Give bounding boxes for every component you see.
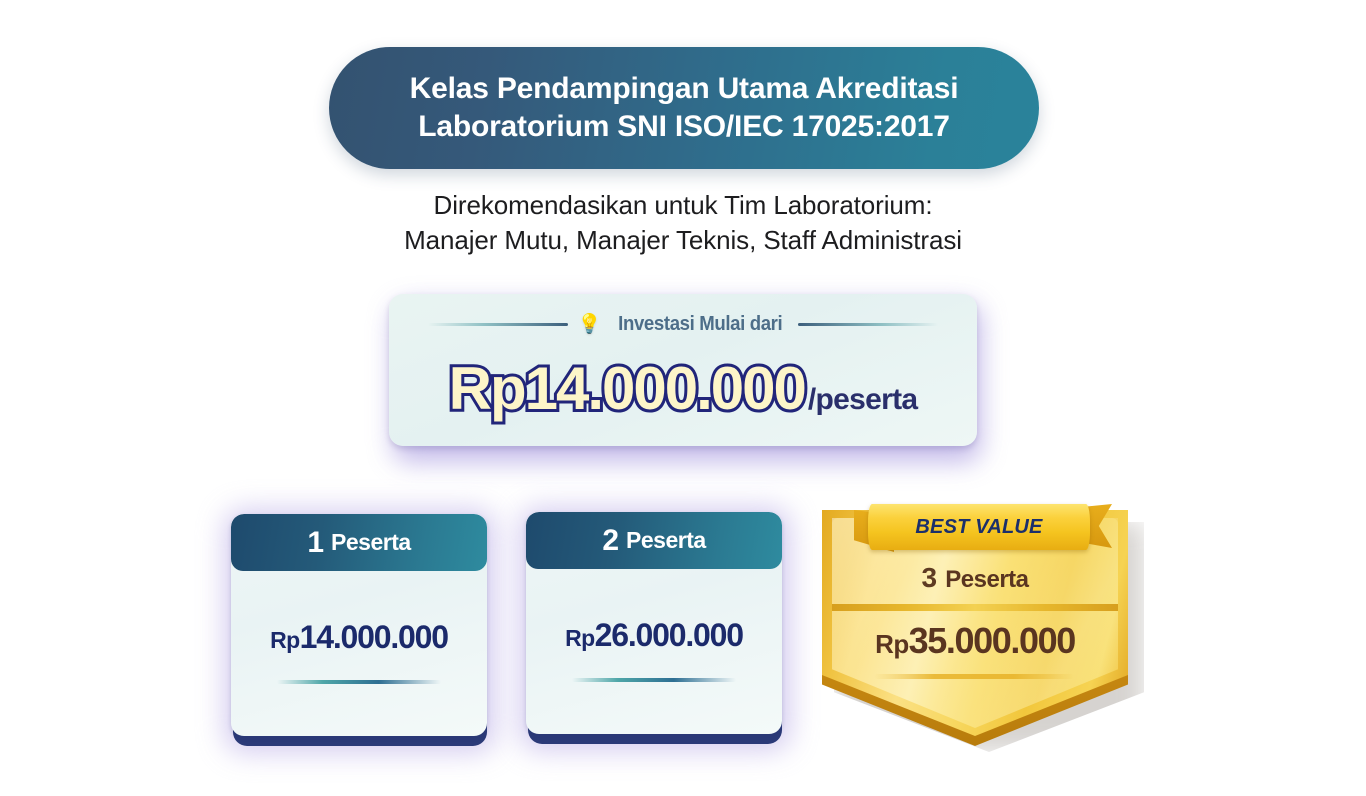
best-value-badge[interactable]: 3 Peserta Rp 35.000.000 BEST VALUE	[812, 496, 1160, 764]
tier-price-row: Rp 26.000.000	[526, 617, 782, 654]
pricing-tier-card-2[interactable]: 2 Peserta Rp 26.000.000	[526, 512, 784, 744]
tier-card-header: 1 Peserta	[231, 514, 487, 571]
tier-currency: Rp	[565, 625, 594, 652]
investment-price-row: Rp14.000.000 /peserta	[389, 354, 977, 423]
tier-card-header: 2 Peserta	[526, 512, 782, 569]
tier-participant-count: 2	[602, 524, 618, 558]
investment-card-surface: 💡 Investasi Mulai dari Rp14.000.000 /pes…	[389, 294, 977, 446]
best-value-participant-unit: Peserta	[945, 566, 1028, 594]
lightbulb-icon: 💡	[578, 315, 602, 334]
tier-participant-unit: Peserta	[331, 529, 411, 556]
best-value-price-row: Rp 35.000.000	[832, 620, 1118, 662]
investment-label: Investasi Mulai dari	[618, 313, 782, 336]
best-value-participant-count: 3	[921, 562, 936, 594]
tier-amount: 26.000.000	[595, 617, 743, 654]
tier-participant-unit: Peserta	[626, 527, 706, 554]
header-title-line-2: Laboratorium SNI ISO/IEC 17025:2017	[418, 108, 950, 146]
divider-rule-left	[428, 323, 568, 326]
best-value-underline-accent	[874, 674, 1074, 679]
best-value-currency: Rp	[875, 629, 908, 660]
header-title-line-1: Kelas Pendampingan Utama Akreditasi	[410, 70, 959, 108]
best-value-amount: 35.000.000	[909, 620, 1075, 662]
investment-per-unit: /peserta	[808, 383, 917, 417]
tier-underline-accent	[277, 680, 441, 684]
tier-price-row: Rp 14.000.000	[231, 619, 487, 656]
tier-participant-count: 1	[307, 526, 323, 560]
tier-card-surface: 1 Peserta Rp 14.000.000	[231, 514, 487, 736]
tier-underline-accent	[572, 678, 736, 682]
subtitle-line-1: Direkomendasikan untuk Tim Laboratorium:	[0, 188, 1366, 223]
ribbon-label: BEST VALUE	[915, 516, 1042, 539]
investment-label-row: 💡 Investasi Mulai dari	[389, 311, 977, 337]
subtitle-line-2: Manajer Mutu, Manajer Teknis, Staff Admi…	[0, 223, 1366, 258]
ribbon-band: BEST VALUE	[868, 504, 1090, 550]
subtitle-block: Direkomendasikan untuk Tim Laboratorium:…	[0, 188, 1366, 258]
promo-canvas: Kelas Pendampingan Utama Akreditasi Labo…	[0, 0, 1366, 796]
pricing-tier-card-1[interactable]: 1 Peserta Rp 14.000.000	[231, 514, 489, 746]
best-value-ribbon: BEST VALUE	[854, 496, 1104, 558]
tier-card-surface: 2 Peserta Rp 26.000.000	[526, 512, 782, 734]
best-value-divider	[832, 604, 1118, 611]
divider-rule-right	[798, 323, 938, 326]
best-value-tier-row: 3 Peserta	[832, 562, 1118, 594]
investment-price: Rp14.000.000	[449, 354, 805, 423]
tier-currency: Rp	[270, 627, 299, 654]
tier-amount: 14.000.000	[300, 619, 448, 656]
investment-card: 💡 Investasi Mulai dari Rp14.000.000 /pes…	[389, 294, 977, 452]
header-banner: Kelas Pendampingan Utama Akreditasi Labo…	[329, 47, 1039, 169]
